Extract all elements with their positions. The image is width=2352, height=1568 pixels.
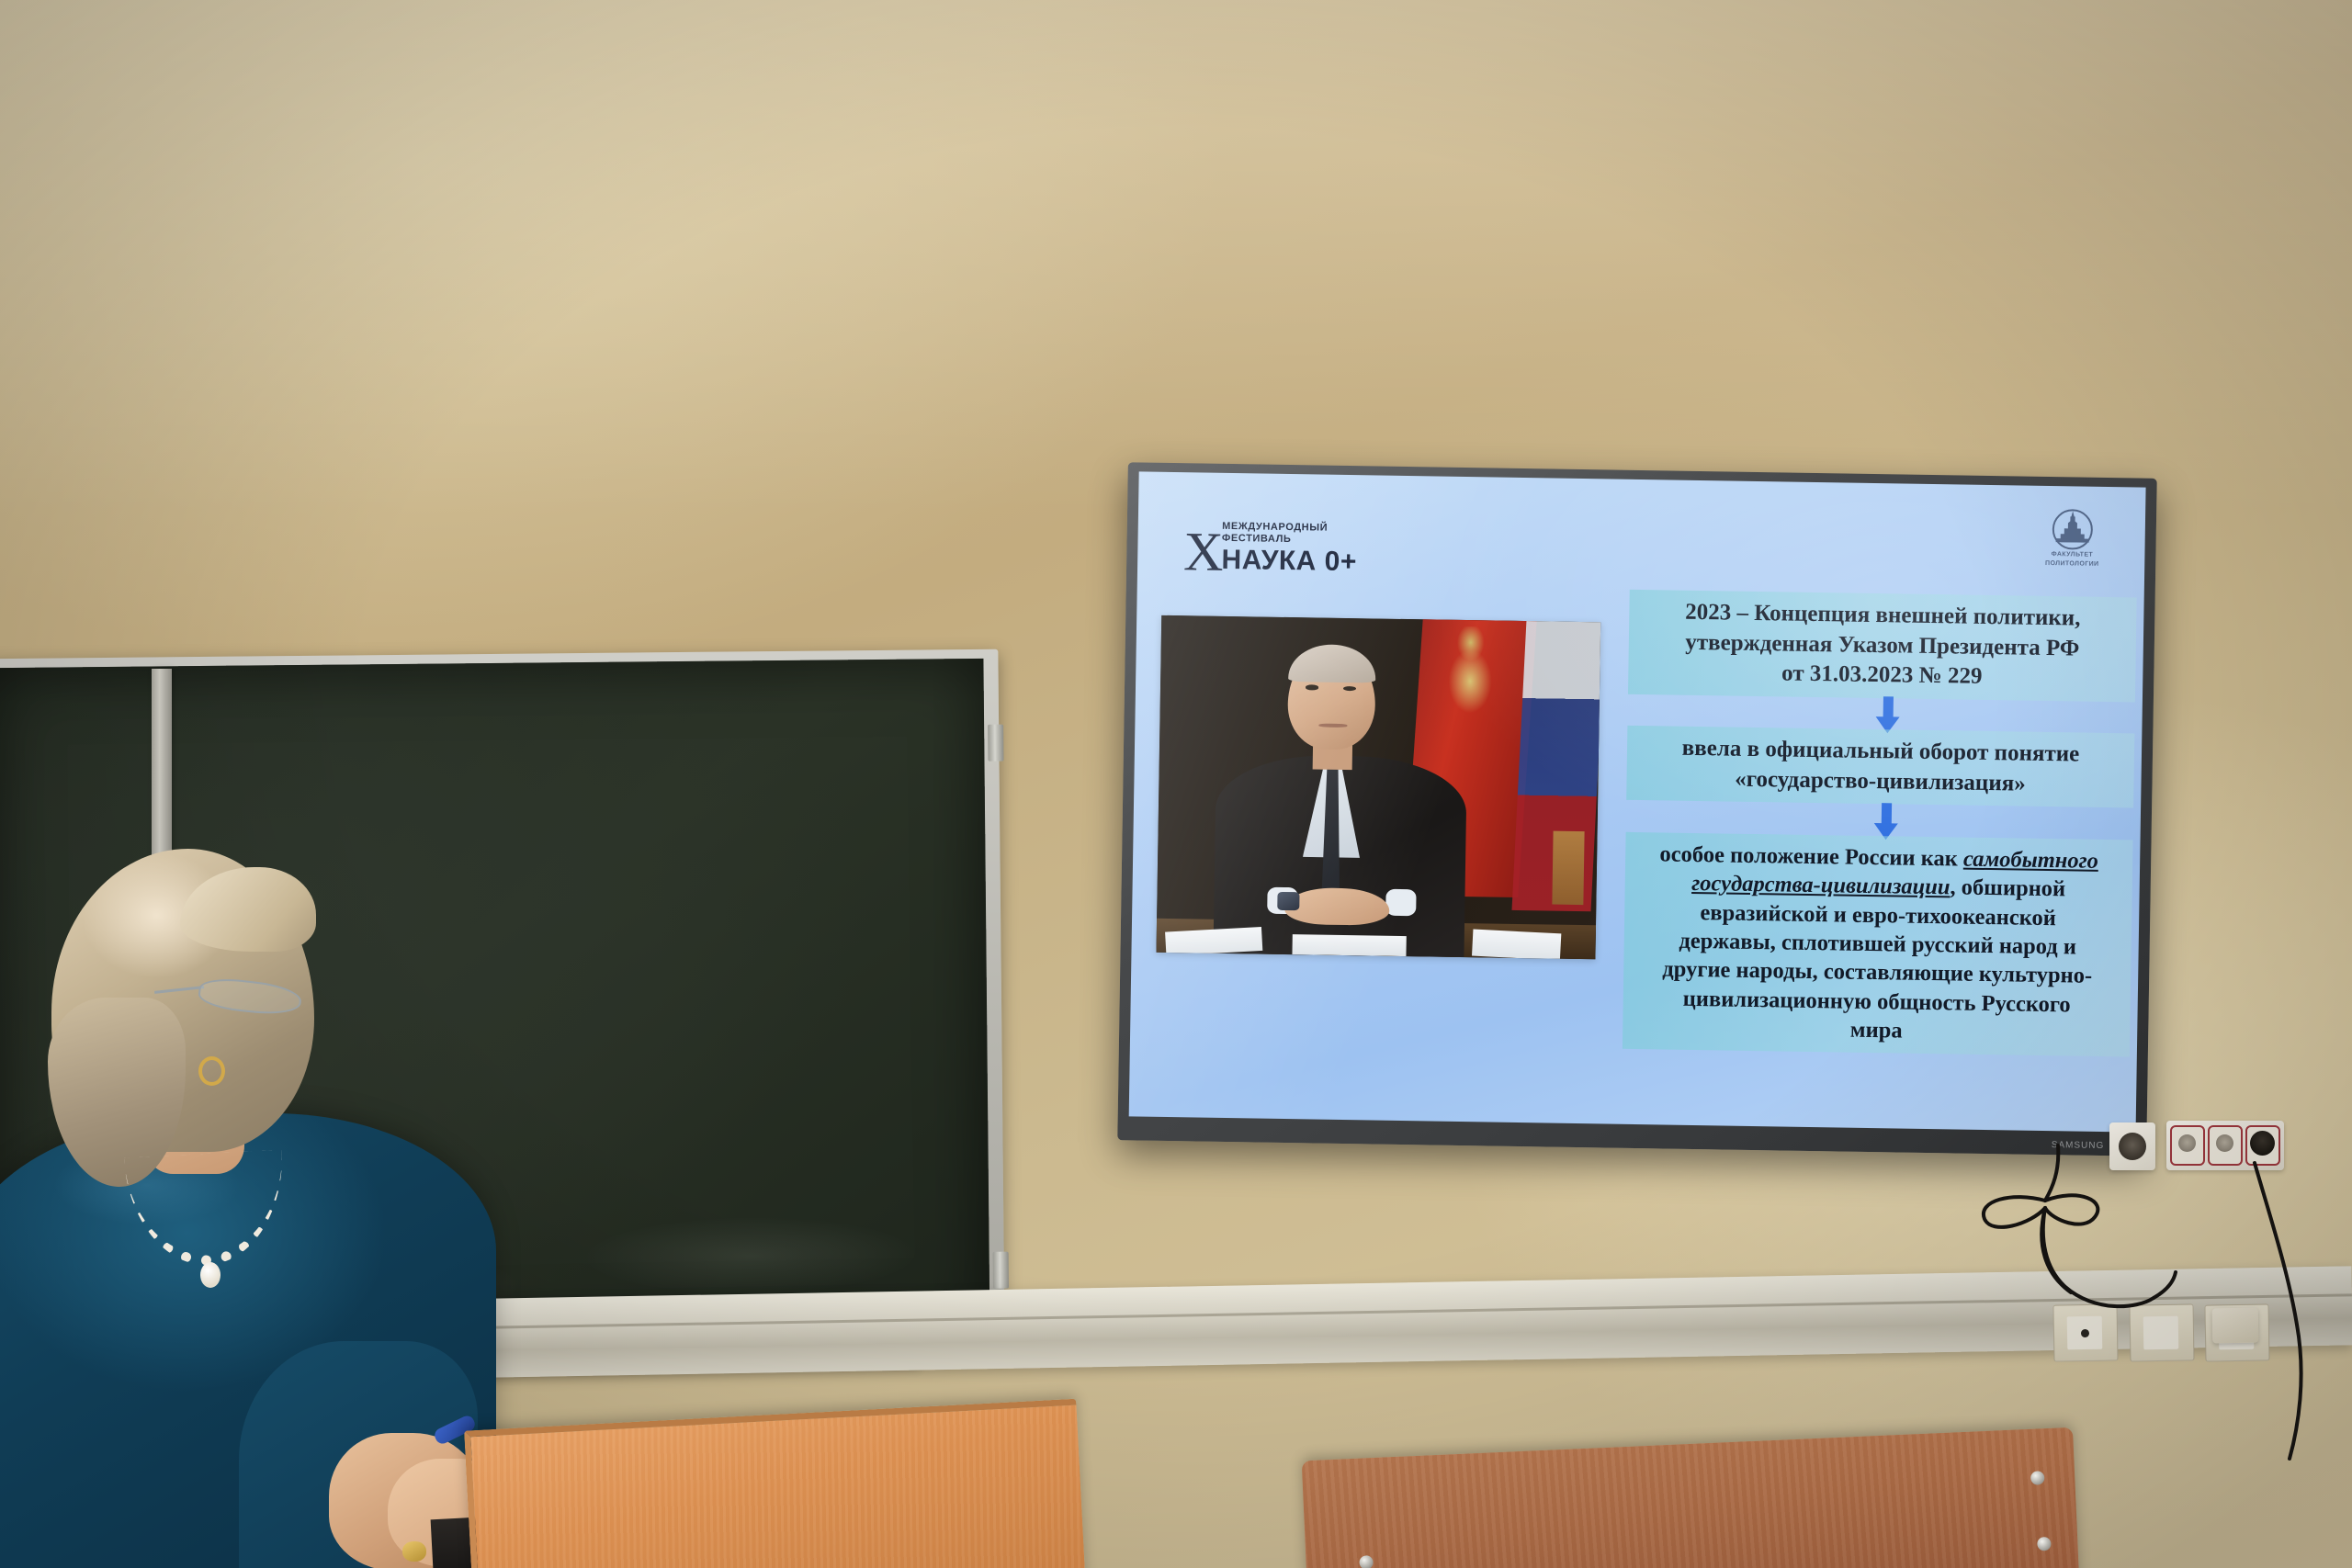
- classroom-scene: X МЕЖДУНАРОДНЫЙ ФЕСТИВАЛЬ НАУКА 0+: [0, 0, 2352, 1568]
- flag-emblem: [1432, 626, 1509, 716]
- pearl-pendant: [200, 1262, 220, 1288]
- slide-textbox-special-position: особое положение России как самобытного …: [1623, 832, 2133, 1056]
- chalkboard-clip: [993, 1252, 1009, 1289]
- slide-textbox-official-term: ввела в официальный оборот понятие «госу…: [1626, 726, 2134, 808]
- flag-fringe: [1553, 830, 1585, 905]
- power-outlet-single[interactable]: [2109, 1122, 2155, 1170]
- textbox-emphasis: государства-цивилизации: [1691, 871, 1951, 899]
- slide-textbox-concept-2023: 2023 – Концепция внешней политики, утвер…: [1628, 590, 2137, 702]
- presentation-slide: X МЕЖДУНАРОДНЫЙ ФЕСТИВАЛЬ НАУКА 0+: [1129, 471, 2146, 1132]
- nauka-festival-logo: X МЕЖДУНАРОДНЫЙ ФЕСТИВАЛЬ НАУКА 0+: [1183, 520, 1358, 576]
- desk-wood-grain: [470, 1405, 1086, 1568]
- photo-cuff-right: [1385, 888, 1417, 916]
- panel-face: [2067, 1316, 2103, 1350]
- photo-paper: [1472, 929, 1561, 959]
- chalkboard-clip: [988, 725, 1003, 761]
- down-arrow-icon: [1875, 696, 1900, 733]
- tv-bezel: X МЕЖДУНАРОДНЫЙ ФЕСТИВАЛЬ НАУКА 0+: [1117, 462, 2156, 1156]
- faculty-line-1: ФАКУЛЬТЕТ: [2052, 551, 2094, 559]
- panel-face: [2143, 1316, 2179, 1350]
- desk-rivet: [1359, 1555, 1374, 1568]
- outlet-socket[interactable]: [2208, 1125, 2243, 1166]
- power-outlet-triple[interactable]: [2166, 1121, 2284, 1170]
- photo-mouth: [1318, 724, 1347, 728]
- slide-photo-president: [1156, 615, 1600, 959]
- faculty-line-2: ПОЛИТОЛОГИИ: [2045, 559, 2099, 568]
- photo-eye-left: [1306, 685, 1318, 690]
- festival-numeral: X: [1183, 530, 1220, 573]
- photo-wristwatch: [1278, 892, 1300, 910]
- plugged-adapter: [2212, 1308, 2259, 1344]
- photo-paper: [1293, 934, 1408, 956]
- outlet-socket[interactable]: [2170, 1125, 2205, 1166]
- gold-ring: [402, 1541, 426, 1562]
- panel-port-dot: [2081, 1329, 2089, 1337]
- wall-mounted-tv: X МЕЖДУНАРОДНЫЙ ФЕСТИВАЛЬ НАУКА 0+: [1117, 462, 2156, 1156]
- textbox-line-plain: , обширной: [1950, 875, 2065, 902]
- msu-building-icon: [2045, 508, 2099, 551]
- nauka-wordmark: НАУКА 0+: [1221, 547, 1357, 576]
- wall-panel-outlet[interactable]: [2129, 1303, 2194, 1361]
- hoop-earring: [198, 1056, 225, 1086]
- down-arrow-icon: [1874, 803, 1899, 840]
- tv-brand-label: SAMSUNG: [2052, 1140, 2105, 1151]
- textbox-emphasis: самобытного: [1963, 847, 2098, 874]
- outlet-socket-occupied[interactable]: [2245, 1125, 2280, 1166]
- textbox-line-plain: особое положение России как: [1659, 841, 1963, 871]
- tv-screen: X МЕЖДУНАРОДНЫЙ ФЕСТИВАЛЬ НАУКА 0+: [1129, 471, 2146, 1132]
- faculty-logo: ФАКУЛЬТЕТ ПОЛИТОЛОГИИ: [2030, 508, 2114, 569]
- outlet-socket-hole: [2119, 1133, 2146, 1160]
- wall-panel-outlet[interactable]: [2052, 1303, 2118, 1361]
- photo-eye-right: [1343, 686, 1356, 691]
